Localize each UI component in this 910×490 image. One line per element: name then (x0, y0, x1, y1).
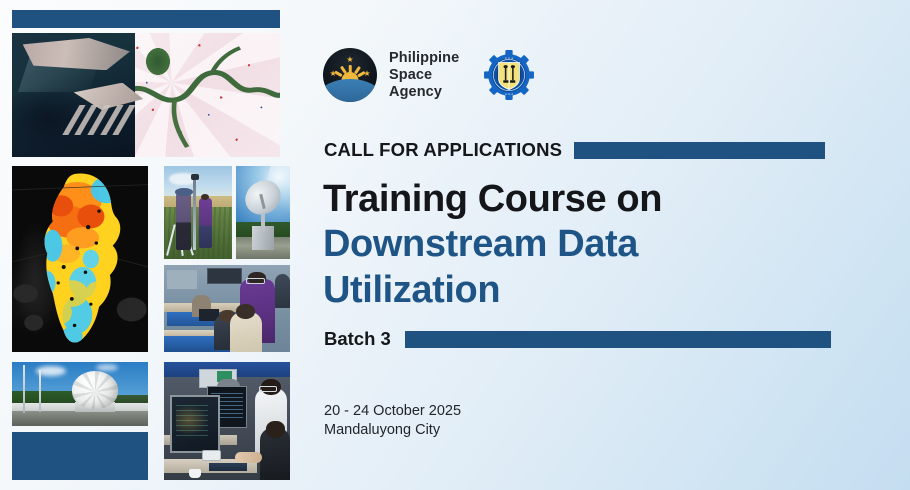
event-location: Mandaluyong City (324, 421, 461, 440)
field-survey-gnss-photo (164, 166, 232, 259)
collage-top-accent-bar (12, 10, 280, 28)
classroom-training-photo (164, 265, 290, 352)
agency-name-line1: Philippine (389, 50, 459, 67)
agency-name-line2: Space (389, 67, 459, 84)
antenna-mast-secondary (39, 370, 41, 412)
operator-dark-head (266, 421, 285, 438)
thermal-hazard-map-island (12, 166, 148, 352)
operations-room-photo (164, 362, 290, 480)
radome (72, 371, 118, 409)
event-details: 20 - 24 October 2025 Mandaluyong City (324, 402, 461, 440)
vegetation-patch (146, 48, 170, 75)
smartphone (202, 450, 222, 461)
svg-text:★ ★ ★: ★ ★ ★ (505, 57, 514, 60)
page-title-line3: Utilization (323, 268, 500, 312)
event-dates: 20 - 24 October 2025 (324, 402, 461, 421)
eyeglasses-icon (246, 278, 264, 284)
horizon-arc (323, 79, 377, 102)
surveyor-person-1 (176, 192, 191, 250)
monitor-primary (170, 395, 219, 453)
antenna-mast (261, 214, 265, 231)
poster-content: ★ ★ ★ Philippine Space Agency (323, 0, 893, 490)
rooftop-deck (12, 411, 148, 426)
ground-station-radome-photo (12, 362, 148, 426)
antenna-mast (23, 365, 25, 414)
surveyor-person-2 (199, 198, 211, 248)
wall-panel (207, 268, 242, 284)
svg-text:★ ★ ★: ★ ★ ★ (505, 93, 514, 96)
star-icon: ★ (346, 56, 353, 64)
cloud (96, 364, 118, 371)
gnss-receiver (191, 174, 198, 180)
image-collage (12, 0, 280, 490)
agency-wordmark: Philippine Space Agency (389, 50, 459, 101)
piers (71, 105, 141, 135)
gnss-pole (193, 177, 196, 250)
pointing-arm (235, 452, 263, 464)
wall-cabinet (167, 270, 197, 289)
eyeglasses-icon (259, 386, 277, 393)
philsa-sun-logo-icon: ★ ★ ★ (323, 48, 377, 102)
kicker-row: CALL FOR APPLICATIONS (324, 139, 894, 161)
map-island-overlay (12, 166, 148, 352)
kicker-accent-bar (574, 142, 825, 159)
trainee-right-background (275, 274, 290, 309)
surveyor-hat (175, 188, 193, 195)
batch-accent-bar (405, 331, 831, 348)
satellite-imagery-coastal-city (12, 33, 280, 157)
cup (189, 469, 200, 477)
logo-row: ★ ★ ★ Philippine Space Agency (323, 48, 537, 102)
poster-canvas: ★ ★ ★ Philippine Space Agency (0, 0, 910, 490)
collage-bottom-accent-block (12, 432, 148, 480)
kicker-label: CALL FOR APPLICATIONS (324, 139, 562, 161)
parabolic-antenna-photo (236, 166, 290, 259)
agency-name-line3: Agency (389, 84, 459, 101)
keyboard (209, 463, 247, 470)
page-title-line1: Training Course on (323, 177, 662, 221)
trainee-cream-head (236, 304, 255, 319)
batch-row: Batch 3 (324, 328, 894, 350)
batch-label: Batch 3 (324, 328, 391, 350)
government-gear-seal-icon: ★ ★ ★ ★ ★ ★ (481, 49, 537, 101)
page-title-line2: Downstream Data (323, 222, 638, 266)
